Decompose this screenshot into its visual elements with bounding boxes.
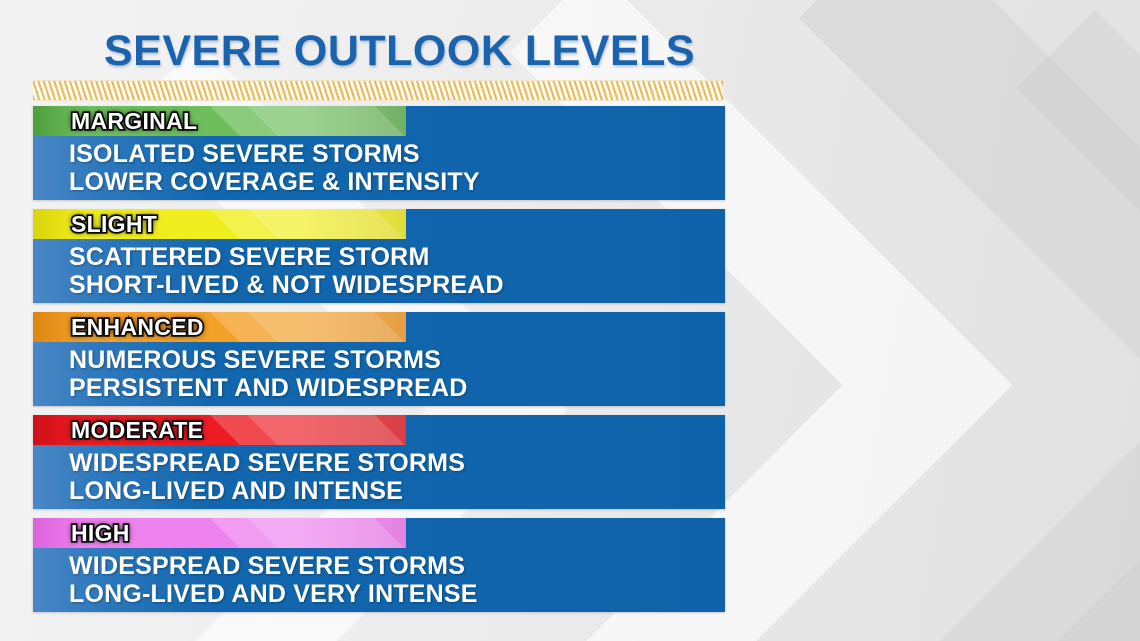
level-description-line-1: WIDESPREAD SEVERE STORMS [69,449,465,477]
level-description-line-1: WIDESPREAD SEVERE STORMS [69,552,478,580]
list-item: ENHANCED NUMEROUS SEVERE STORMS PERSISTE… [33,312,725,406]
level-description-line-1: NUMEROUS SEVERE STORMS [69,346,468,374]
list-item: SLIGHT SCATTERED SEVERE STORM SHORT-LIVE… [33,209,725,303]
page-title: SEVERE OUTLOOK LEVELS [104,27,695,76]
level-description-line-2: LOWER COVERAGE & INTENSITY [69,168,480,196]
level-description: NUMEROUS SEVERE STORMS PERSISTENT AND WI… [69,346,468,402]
level-description-line-2: PERSISTENT AND WIDESPREAD [69,374,468,402]
level-description-line-1: SCATTERED SEVERE STORM [69,243,504,271]
list-item: HIGH WIDESPREAD SEVERE STORMS LONG-LIVED… [33,518,725,612]
severe-outlook-level-list: MARGINAL ISOLATED SEVERE STORMS LOWER CO… [33,106,725,612]
gold-stripe-divider [33,80,723,101]
level-label: ENHANCED [71,314,204,341]
level-label: HIGH [71,520,130,547]
level-description-line-2: LONG-LIVED AND INTENSE [69,477,465,505]
level-description: SCATTERED SEVERE STORM SHORT-LIVED & NOT… [69,243,504,299]
level-label: MODERATE [71,417,203,444]
list-item: MARGINAL ISOLATED SEVERE STORMS LOWER CO… [33,106,725,200]
level-description: WIDESPREAD SEVERE STORMS LONG-LIVED AND … [69,552,478,608]
level-description: WIDESPREAD SEVERE STORMS LONG-LIVED AND … [69,449,465,505]
level-description-line-2: SHORT-LIVED & NOT WIDESPREAD [69,271,504,299]
level-description-line-2: LONG-LIVED AND VERY INTENSE [69,580,478,608]
level-description-line-1: ISOLATED SEVERE STORMS [69,140,480,168]
level-label: SLIGHT [71,211,157,238]
list-item: MODERATE WIDESPREAD SEVERE STORMS LONG-L… [33,415,725,509]
level-description: ISOLATED SEVERE STORMS LOWER COVERAGE & … [69,140,480,196]
level-label: MARGINAL [71,108,197,135]
